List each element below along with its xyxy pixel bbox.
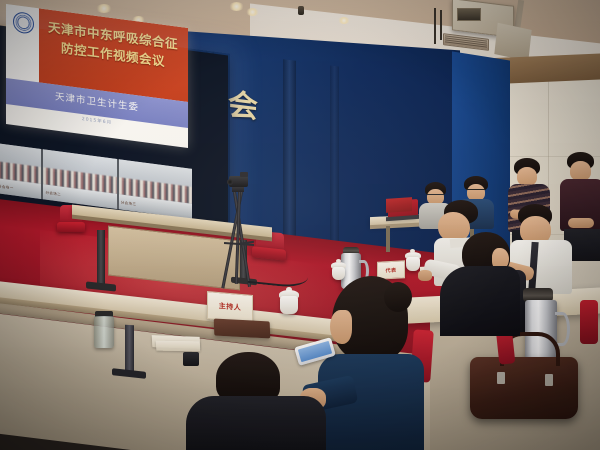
recessed-downlight (246, 8, 259, 16)
camera-lens-icon (227, 179, 233, 185)
audience-chair-back (580, 300, 598, 344)
thermos-handle (555, 312, 570, 346)
video-feed-tile-1: 分会场一 (0, 143, 41, 199)
teacup-with-lid (332, 267, 345, 280)
handbag-clasp-icon (545, 374, 553, 386)
name-card-mid-text: 代表 (385, 266, 396, 274)
glasses-icon (466, 189, 485, 193)
teacup-with-lid (280, 296, 298, 314)
camera-viewfinder-icon (240, 172, 248, 177)
name-card-front-text: 主持人 (219, 301, 242, 313)
standing-arm (568, 218, 594, 228)
leather-folder (214, 319, 271, 339)
foreground-table-leg (125, 325, 134, 373)
dark-cup (183, 352, 199, 366)
recessed-downlight (96, 4, 112, 13)
handbag-clasp-icon (497, 372, 505, 384)
presenter-table-leg (97, 230, 105, 286)
stage-chair (57, 222, 85, 232)
teacup-knob (410, 249, 415, 253)
red-document-box (386, 197, 412, 213)
brown-handbag[interactable] (470, 357, 578, 419)
video-feed-tile-2: 分会场二 (43, 149, 116, 209)
projected-slide: 天津市中东呼吸综合征 防控工作视频会议 天津市卫生计生委 2015年6月 (6, 4, 188, 148)
back-table-leg (386, 226, 390, 252)
teacup-with-lid (406, 257, 420, 271)
backdrop-char-hui-1: 会 (228, 90, 258, 124)
ceiling-speaker (298, 6, 304, 15)
document-papers (156, 341, 201, 352)
standing-head (570, 161, 591, 181)
glass-jar (94, 316, 114, 348)
recessed-downlight (338, 17, 350, 24)
attendee-ponytail (384, 282, 412, 312)
video-feed-tile-3: 分会场三 (119, 159, 192, 219)
attendee-torso (186, 396, 326, 450)
attendee-foreground-edge (440, 266, 520, 336)
projector-lens-icon (457, 8, 481, 21)
attendee-face (330, 310, 352, 344)
conference-room-photo: 员 会 会 天津市中东呼吸综合征 防控工作视频会议 天津市卫生计生委 2015年… (0, 0, 600, 450)
attendee-hand (418, 270, 432, 281)
teacup-knob (336, 259, 341, 263)
recessed-downlight (229, 2, 244, 11)
glasses-icon (427, 194, 444, 198)
